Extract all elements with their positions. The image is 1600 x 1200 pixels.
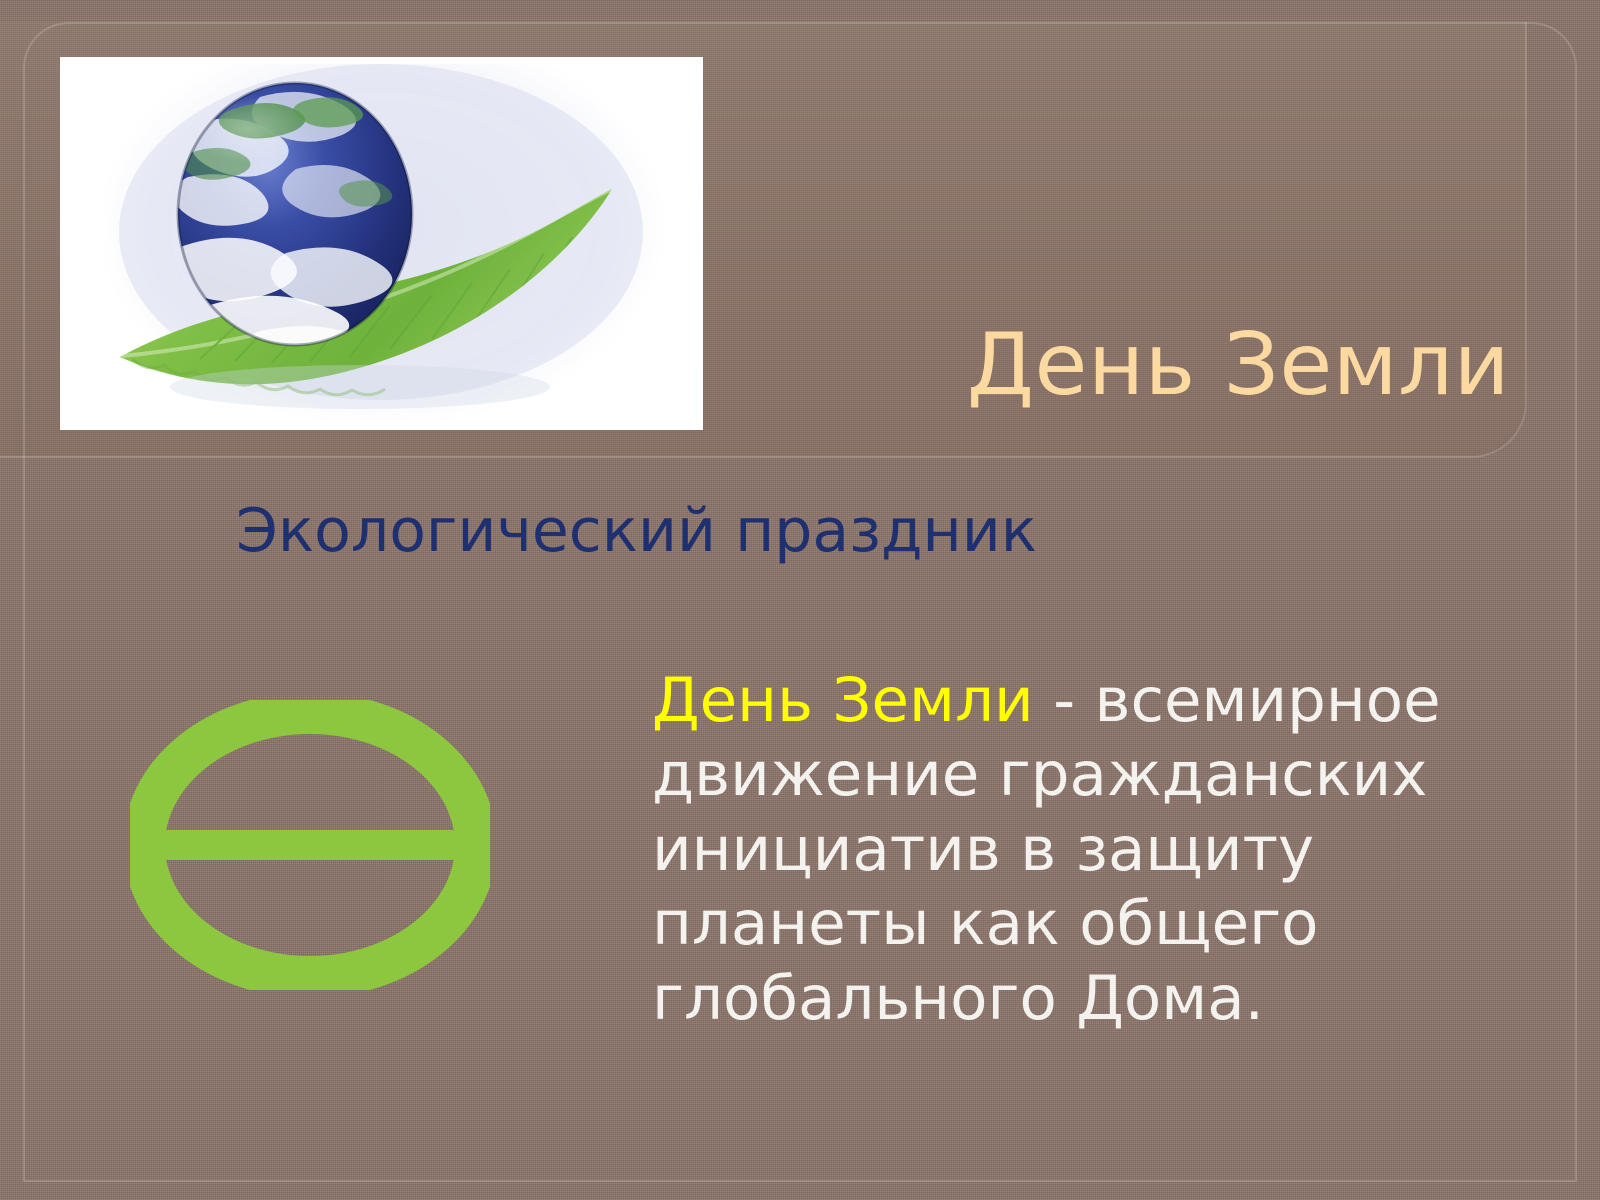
slide-body-text: День Земли - всемирное движение гражданс… [652, 664, 1452, 1036]
earth-on-leaf-illustration [60, 57, 703, 430]
slide-title: День Земли [720, 322, 1510, 408]
theta-ecology-icon [130, 700, 490, 990]
presentation-slide: День Земли Экологический праздник День З… [0, 0, 1600, 1200]
theta-symbol-svg [130, 700, 490, 990]
slide-subtitle: Экологический праздник [236, 500, 1037, 563]
hero-image-earth-on-leaf [60, 57, 703, 430]
body-highlight: День Земли [652, 665, 1034, 736]
